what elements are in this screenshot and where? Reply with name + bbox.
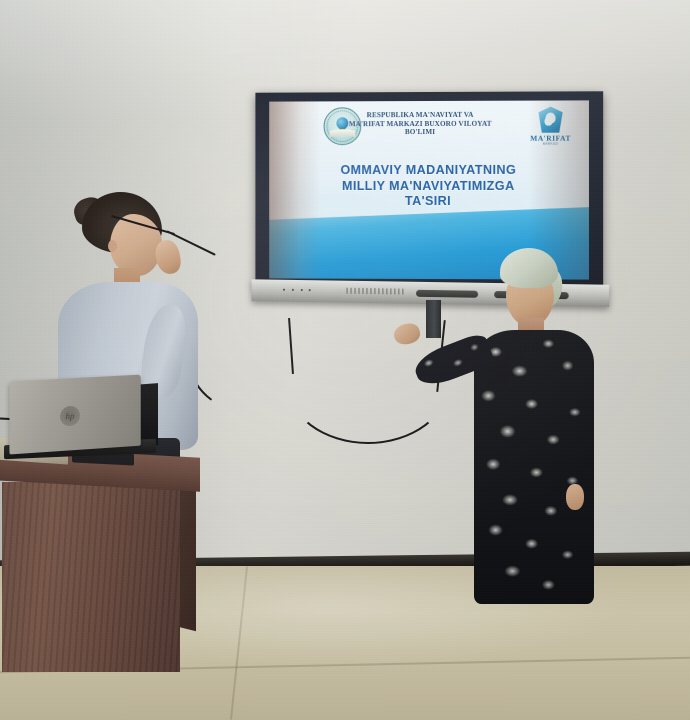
podium-front-panel — [2, 482, 180, 672]
floral-dress — [474, 330, 594, 604]
hp-laptop[interactable]: hp — [4, 378, 156, 464]
control-bar-label — [346, 288, 406, 295]
resting-hand — [566, 484, 584, 510]
ear — [108, 240, 117, 252]
screen-glare-left — [269, 101, 320, 278]
wood-grain — [2, 482, 180, 672]
hand-holding-glasses — [153, 238, 183, 276]
woman-right-presenter — [418, 248, 594, 604]
wooden-podium — [0, 452, 200, 672]
control-buttons-icon[interactable] — [281, 288, 311, 292]
headscarf — [500, 248, 558, 288]
photo-scene: RESPUBLIKA MA'NAVIYAT VA MA'RIFAT MARKAZ… — [0, 0, 690, 720]
slide-header-line-3: BO'LIMI — [321, 128, 521, 137]
slide-header: RESPUBLIKA MA'NAVIYAT VA MA'RIFAT MARKAZ… — [321, 111, 521, 137]
